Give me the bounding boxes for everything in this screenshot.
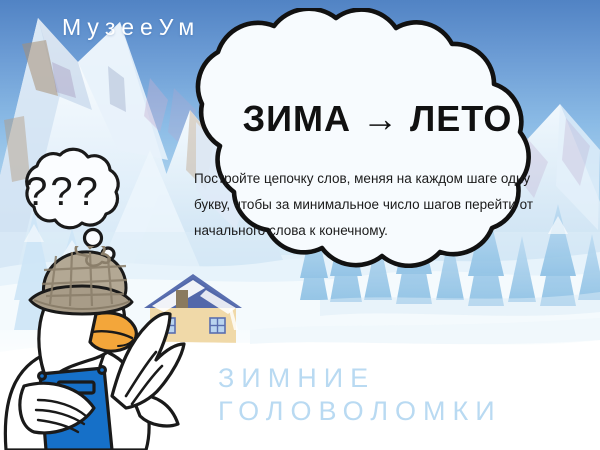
slide-canvas: МузееУм ЗИМНИЕ ГОЛОВОЛОМКИ ??? ЗИМА → ЛЕ…: [0, 0, 600, 450]
speech-bubble: ЗИМА → ЛЕТО Постройте цепочку слов, меня…: [150, 8, 600, 338]
thought-bubble-text: ???: [4, 170, 122, 215]
thought-bubble: ???: [4, 134, 132, 264]
bottom-heading-line-2: ГОЛОВОЛОМКИ: [218, 395, 600, 428]
puzzle-title: ЗИМА → ЛЕТО: [190, 98, 565, 140]
bottom-heading-line-1: ЗИМНИЕ: [218, 363, 375, 393]
goose-illustration: [0, 246, 210, 450]
bottom-heading: ЗИМНИЕ ГОЛОВОЛОМКИ: [218, 362, 600, 428]
deerstalker-hat: [30, 246, 132, 314]
detective-goose: [0, 246, 210, 450]
speech-bubble-content: ЗИМА → ЛЕТО Постройте цепочку слов, меня…: [190, 98, 565, 244]
puzzle-instructions: Постройте цепочку слов, меняя на каждом …: [190, 166, 565, 244]
